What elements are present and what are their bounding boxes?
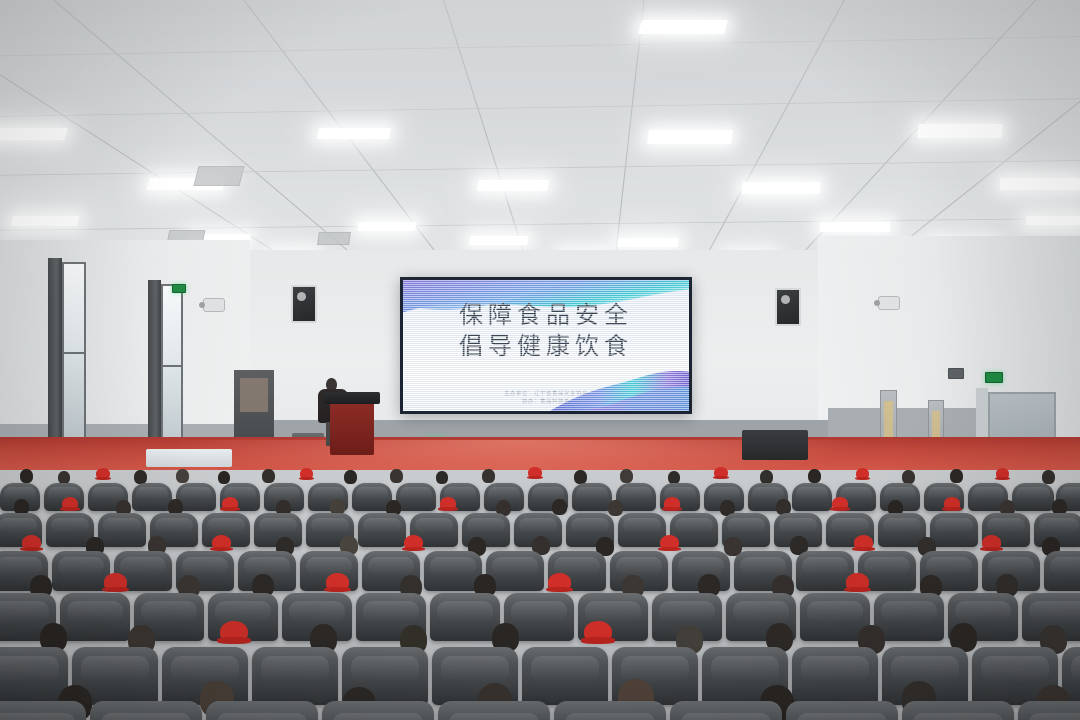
left-curtain-1 — [48, 258, 62, 464]
seat — [618, 513, 666, 547]
attendee-head — [344, 470, 357, 484]
seat — [358, 513, 406, 547]
ceiling-lamp — [469, 236, 528, 245]
podium-top — [324, 392, 380, 404]
attendee-red-cap — [104, 573, 127, 591]
seat — [930, 513, 978, 547]
attendee-red-cap — [300, 468, 313, 479]
attendee-head — [1042, 470, 1055, 484]
attendee-red-cap — [854, 535, 873, 550]
attendee-head — [436, 471, 448, 484]
attendee-red-cap — [982, 535, 1001, 550]
attendee-red-cap — [944, 497, 960, 510]
left-loudspeaker — [291, 285, 317, 323]
attendee-head — [262, 469, 275, 483]
attendee-red-cap — [664, 497, 680, 510]
attendee-red-cap — [326, 573, 349, 591]
seat — [786, 701, 898, 720]
seat — [132, 483, 172, 511]
led-scanlines — [403, 280, 689, 411]
attendee-red-cap — [714, 467, 728, 478]
attendee-head — [20, 469, 33, 483]
podium — [330, 400, 374, 455]
seat — [98, 513, 146, 547]
attendee-head — [620, 469, 633, 483]
ceiling-lamp — [0, 128, 68, 140]
seat — [396, 483, 436, 511]
attendee-red-cap — [220, 621, 248, 642]
attendee-red-cap — [212, 535, 231, 550]
attendee-red-cap — [660, 535, 679, 550]
attendee-head — [482, 469, 495, 483]
attendee-head — [902, 470, 915, 484]
ceiling-lamp — [477, 180, 549, 191]
attendee-head — [950, 469, 963, 483]
seat — [792, 647, 878, 705]
seat — [792, 483, 832, 511]
seat — [874, 593, 944, 641]
seat — [60, 593, 130, 641]
ceiling-lamp — [647, 130, 733, 144]
audience — [0, 455, 1080, 720]
attendee-red-cap — [528, 467, 542, 478]
attendee-red-cap — [548, 573, 571, 591]
seat — [252, 647, 338, 705]
left-curtain-2 — [148, 280, 161, 460]
seat — [572, 483, 612, 511]
attendee-head — [218, 471, 230, 484]
ceiling-lamp — [618, 238, 679, 247]
seat — [1044, 551, 1080, 591]
exit-sign-left — [172, 284, 186, 293]
attendee-red-cap — [404, 535, 423, 550]
slide-surface: 保障食品安全 倡导健康饮食 主办单位：辽宁省食品安全协会 协办：食品科技处 — [403, 280, 689, 411]
ceiling-lamp — [317, 128, 391, 139]
window-left-2 — [161, 284, 183, 460]
ceiling-lamp — [11, 216, 79, 226]
exit-sign-right — [985, 372, 1003, 383]
ceiling-lamp — [1026, 216, 1080, 225]
ceiling-lamp — [1000, 178, 1080, 190]
seat — [206, 701, 318, 720]
ceiling-vent — [317, 232, 351, 245]
wall-sign-right — [948, 368, 964, 379]
attendee-head — [134, 470, 147, 484]
attendee-head — [390, 469, 403, 483]
seat — [902, 701, 1014, 720]
ceiling-lamp — [357, 222, 416, 231]
seat — [322, 701, 434, 720]
attendee-red-cap — [96, 468, 110, 479]
auditorium-photo: 保障食品安全 倡导健康饮食 主办单位：辽宁省食品安全协会 协办：食品科技处 — [0, 0, 1080, 720]
ceiling-lamp — [918, 124, 1003, 138]
attendee-red-cap — [222, 497, 238, 510]
right-loudspeaker — [775, 288, 801, 326]
ceiling-lamp — [741, 182, 820, 194]
attendee-head — [176, 469, 189, 483]
attendee-red-cap — [996, 468, 1009, 479]
seat — [1012, 483, 1054, 511]
seat — [670, 701, 782, 720]
attendee-head — [608, 500, 623, 516]
ceiling-lamp — [638, 20, 728, 34]
seat — [438, 701, 550, 720]
ceiling-vent — [194, 166, 245, 186]
security-camera-left — [203, 298, 225, 312]
seat — [554, 701, 666, 720]
attendee-red-cap — [856, 468, 869, 479]
seat — [0, 701, 86, 720]
attendee-red-cap — [584, 621, 612, 642]
seat — [430, 593, 500, 641]
seat — [90, 701, 202, 720]
seat — [52, 551, 110, 591]
attendee-head — [574, 470, 587, 484]
led-screen[interactable]: 保障食品安全 倡导健康饮食 主办单位：辽宁省食品安全协会 协办：食品科技处 — [400, 277, 692, 414]
seat — [1018, 701, 1080, 720]
attendee-red-cap — [846, 573, 869, 591]
attendee-red-cap — [62, 497, 78, 510]
attendee-red-cap — [832, 497, 848, 510]
attendee-red-cap — [440, 497, 456, 510]
attendee-head — [552, 499, 567, 515]
security-camera-right — [878, 296, 900, 310]
stage-left-boxes — [240, 378, 268, 412]
attendee-head — [808, 469, 821, 483]
attendee-red-cap — [22, 535, 41, 550]
attendee-head — [760, 470, 773, 484]
window-left-1 — [62, 262, 86, 458]
seat — [522, 647, 608, 705]
ceiling-lamp — [820, 222, 890, 232]
